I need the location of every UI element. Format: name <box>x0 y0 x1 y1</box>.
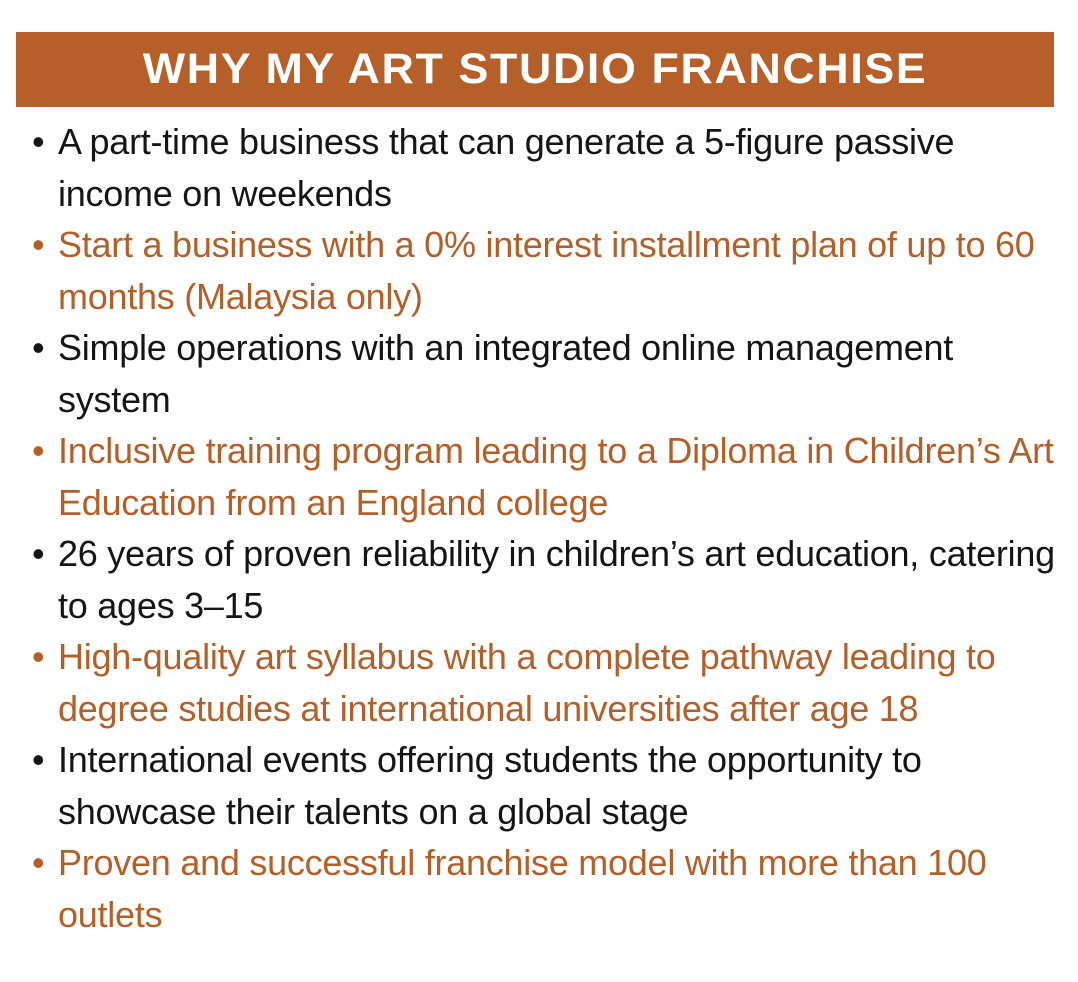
list-item: •Inclusive training program leading to a… <box>16 425 1062 528</box>
benefits-list: •A part-time business that can generate … <box>16 116 1062 940</box>
page-title: WHY MY ART STUDIO FRANCHISE <box>143 48 928 91</box>
bullet-dot-icon: • <box>32 219 52 271</box>
bullet-dot-icon: • <box>32 322 52 374</box>
bullet-dot-icon: • <box>32 631 52 683</box>
list-item: •High-quality art syllabus with a comple… <box>16 631 1062 734</box>
list-item-label: Inclusive training program leading to a … <box>58 425 1062 528</box>
slide-canvas: WHY MY ART STUDIO FRANCHISE •A part-time… <box>0 0 1078 982</box>
list-item-label: High-quality art syllabus with a complet… <box>58 631 1062 734</box>
list-item-label: Proven and successful franchise model wi… <box>58 837 1062 940</box>
title-banner: WHY MY ART STUDIO FRANCHISE <box>16 32 1054 107</box>
list-item: •Simple operations with an integrated on… <box>16 322 1062 425</box>
list-item: •26 years of proven reliability in child… <box>16 528 1062 631</box>
bullet-dot-icon: • <box>32 528 52 580</box>
list-item: •Proven and successful franchise model w… <box>16 837 1062 940</box>
list-item-label: International events offering students t… <box>58 734 1062 837</box>
list-item-label: 26 years of proven reliability in childr… <box>58 528 1062 631</box>
list-item-label: A part-time business that can generate a… <box>58 116 1062 219</box>
bullet-dot-icon: • <box>32 116 52 168</box>
list-item: •International events offering students … <box>16 734 1062 837</box>
list-item-label: Start a business with a 0% interest inst… <box>58 219 1062 322</box>
bullet-dot-icon: • <box>32 425 52 477</box>
list-item: •A part-time business that can generate … <box>16 116 1062 219</box>
list-item-label: Simple operations with an integrated onl… <box>58 322 1062 425</box>
bullet-dot-icon: • <box>32 837 52 889</box>
list-item: •Start a business with a 0% interest ins… <box>16 219 1062 322</box>
bullet-dot-icon: • <box>32 734 52 786</box>
